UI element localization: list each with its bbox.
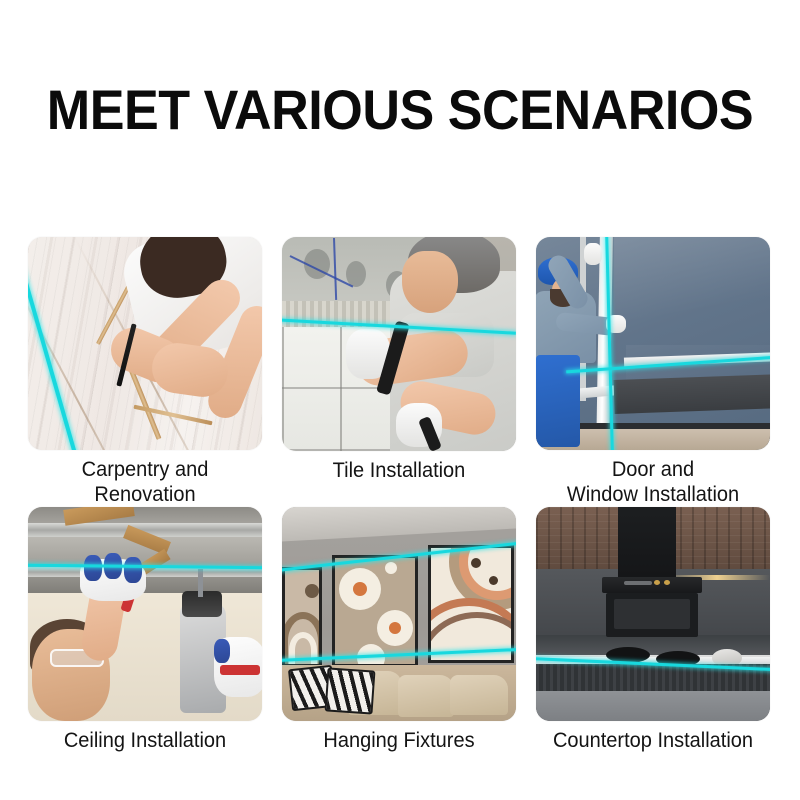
scenario-card-ceiling[interactable]: Ceiling Installation [18, 507, 272, 775]
scenario-row-2: Ceiling Installation [18, 507, 782, 775]
scenario-caption-tile: Tile Installation [281, 458, 517, 483]
scenario-image-ceiling [28, 507, 262, 721]
scenario-caption-door-window: Door and Window Installation [531, 457, 775, 507]
scenario-caption-countertop: Countertop Installation [531, 728, 775, 753]
wall-art-frame [428, 545, 514, 663]
scenario-image-carpentry [28, 237, 262, 450]
scenario-image-door-window [536, 237, 770, 450]
scenario-image-countertop [536, 507, 770, 721]
scenario-card-hanging-fixtures[interactable]: Hanging Fixtures [272, 507, 526, 775]
scenario-card-door-window[interactable]: Door and Window Installation [526, 237, 780, 507]
scenario-image-hanging-fixtures [282, 507, 516, 721]
scenario-row-1: Carpentry and Renovation [18, 237, 782, 507]
wall-art-frame [282, 567, 322, 667]
scenario-grid: Carpentry and Renovation [18, 237, 782, 775]
scenario-card-tile[interactable]: Tile Installation [272, 237, 526, 507]
scenario-card-carpentry[interactable]: Carpentry and Renovation [18, 237, 272, 507]
scenario-caption-hanging-fixtures: Hanging Fixtures [281, 728, 517, 753]
scenario-caption-carpentry: Carpentry and Renovation [27, 457, 263, 507]
scenario-caption-ceiling: Ceiling Installation [27, 728, 263, 753]
wall-art-frame [332, 555, 418, 667]
scenario-card-countertop[interactable]: Countertop Installation [526, 507, 780, 775]
page-title: MEET VARIOUS SCENARIOS [28, 82, 772, 138]
scenario-image-tile [282, 237, 516, 451]
